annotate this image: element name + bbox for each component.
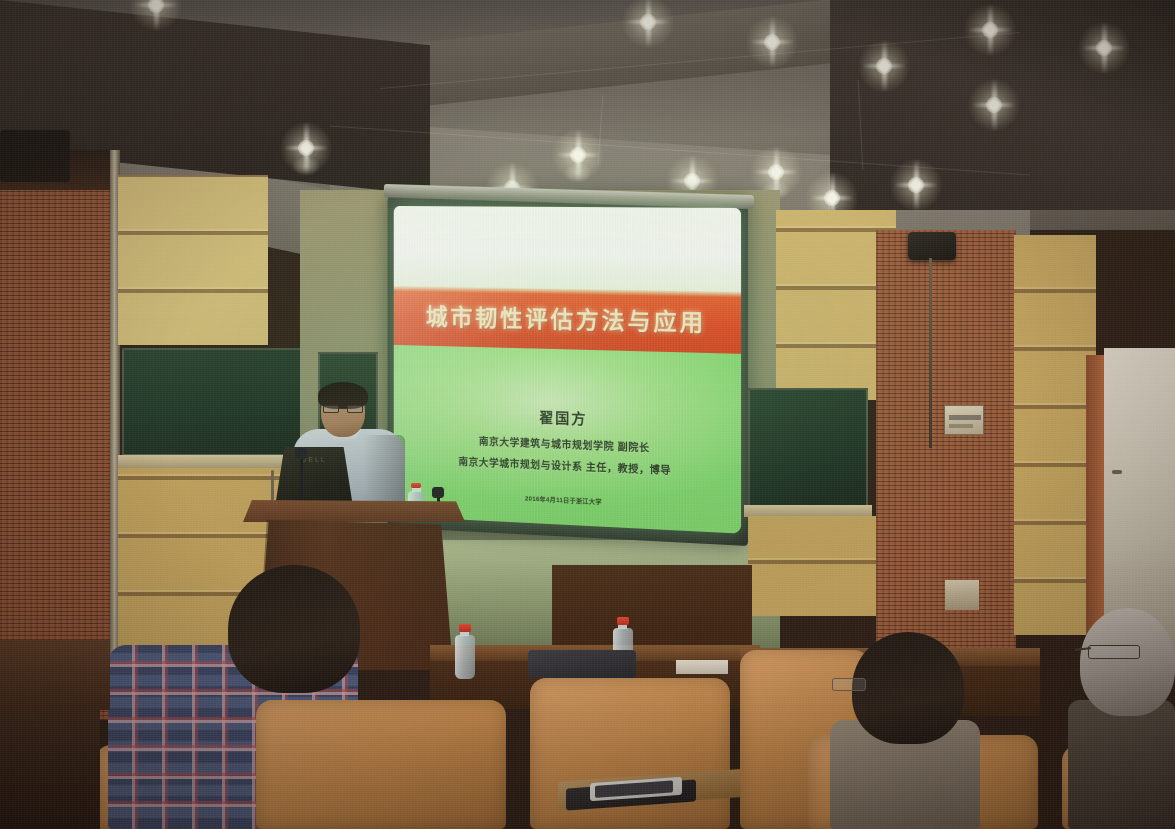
right-wall-far-panel <box>1014 235 1096 635</box>
chalkboard-right <box>748 388 868 508</box>
monitor-brand-label: DELL <box>275 457 353 464</box>
rear-desk-left <box>0 640 110 710</box>
audience-plaid-shirt-head <box>228 565 360 693</box>
audience-grey-hair-head <box>1080 608 1175 716</box>
lecture-hall-photo: 城市韧性评估方法与应用 翟国方 南京大学建筑与城市规划学院 副院长 南京大学城市… <box>0 0 1175 829</box>
door-handle-icon[interactable] <box>1112 470 1122 474</box>
wall-speaker-icon <box>908 232 956 260</box>
right-wall-panel-lower <box>748 516 876 616</box>
audience-glasses-icon-2 <box>1088 645 1140 659</box>
floor-left <box>0 700 100 829</box>
podium-top <box>243 500 465 522</box>
left-brick-wall <box>0 160 112 720</box>
folded-jacket <box>528 650 636 678</box>
speaker-cable <box>929 258 932 448</box>
chalkboard-left <box>122 348 318 456</box>
audience-water-bottle-1 <box>455 625 477 679</box>
podium-microphone-head <box>295 448 307 459</box>
audience-dark-hair-head <box>852 632 964 744</box>
seat-center-left[interactable] <box>256 700 506 829</box>
wall-notice-icon <box>944 405 984 435</box>
door-frame <box>1086 355 1104 655</box>
left-wall-panel-upper <box>118 175 268 345</box>
wall-outlet-box <box>945 580 979 610</box>
presentation-slide: 城市韧性评估方法与应用 翟国方 南京大学建筑与城市规划学院 副院长 南京大学城市… <box>394 206 741 534</box>
slide-top-white-area <box>394 206 741 296</box>
podium-monitor: DELL <box>275 447 353 507</box>
front-desk-panel <box>552 565 752 657</box>
audience-grey-hair-body <box>1068 700 1175 829</box>
audience-glasses-icon-1 <box>832 678 866 691</box>
desk-microphone-head <box>432 487 444 498</box>
wall-speaker-left <box>0 130 70 182</box>
papers-on-desk <box>676 660 728 674</box>
presenter-glasses-icon <box>323 405 363 413</box>
